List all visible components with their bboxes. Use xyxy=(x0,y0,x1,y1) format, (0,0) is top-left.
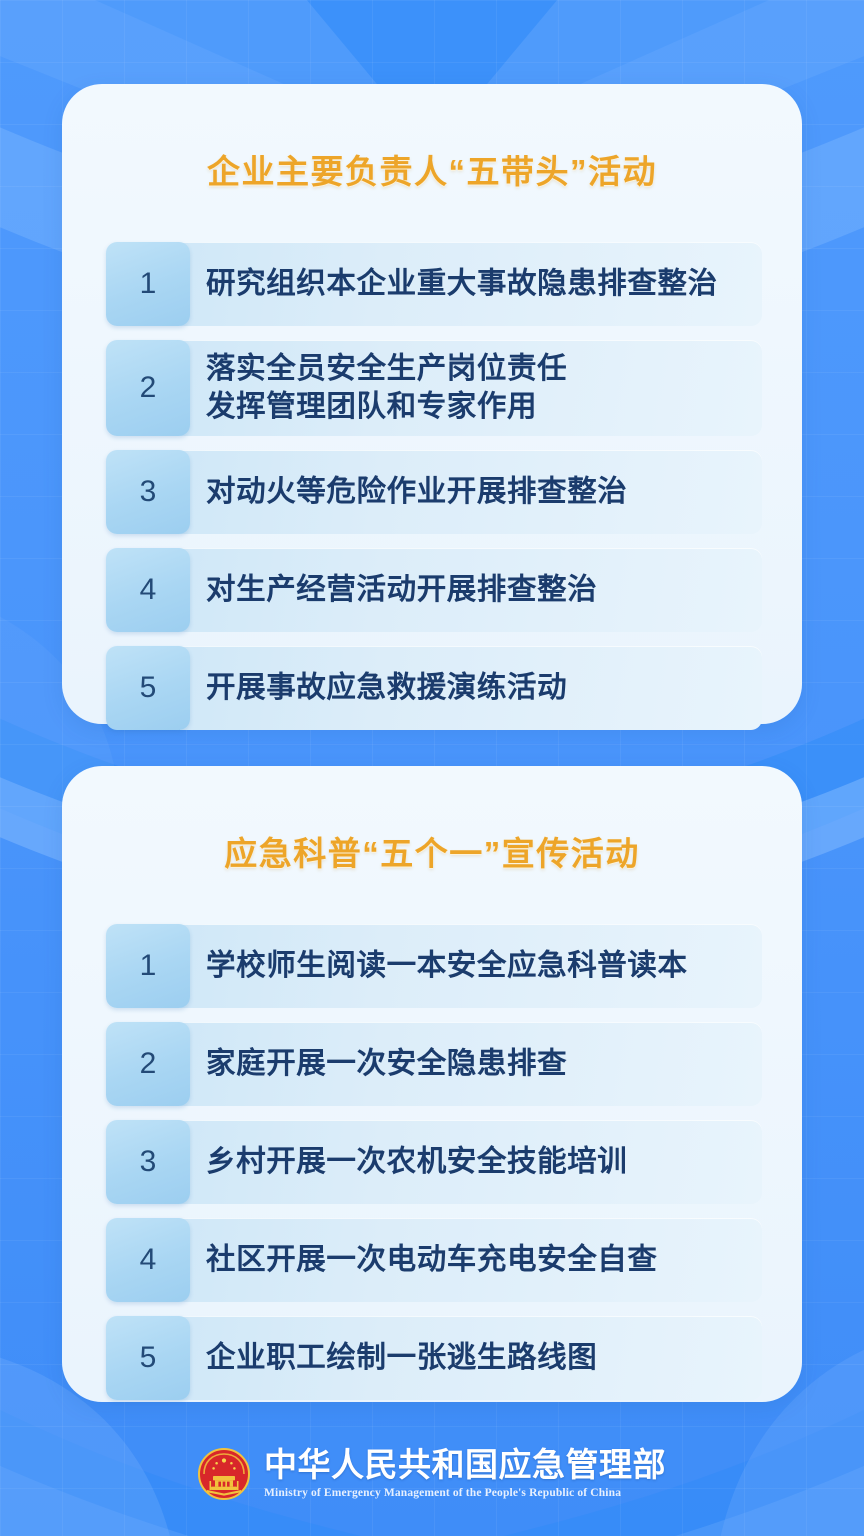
item-text-panel: 对生产经营活动开展排查整治 xyxy=(180,548,762,632)
list-item[interactable]: 4 社区开展一次电动车充电安全自查 xyxy=(106,1218,762,1302)
item-text-line: 发挥管理团队和专家作用 xyxy=(206,388,744,426)
item-number-badge: 2 xyxy=(106,1022,190,1106)
ministry-name-en: Ministry of Emergency Management of the … xyxy=(264,1487,621,1501)
china-national-emblem-icon xyxy=(198,1448,250,1500)
item-number-badge: 4 xyxy=(106,548,190,632)
item-text-panel: 对动火等危险作业开展排查整治 xyxy=(180,450,762,534)
activity-card-emergency-science-popularization: 应急科普“五个一”宣传活动 1 学校师生阅读一本安全应急科普读本 2 家庭开展一… xyxy=(62,766,802,1402)
list-item[interactable]: 3 乡村开展一次农机安全技能培训 xyxy=(106,1120,762,1204)
item-text-panel: 企业职工绘制一张逃生路线图 xyxy=(180,1316,762,1400)
list-item[interactable]: 4 对生产经营活动开展排查整治 xyxy=(106,548,762,632)
item-text-line: 研究组织本企业重大事故隐患排查整治 xyxy=(206,265,744,303)
item-number-badge: 1 xyxy=(106,924,190,1008)
item-text-line: 对生产经营活动开展排查整治 xyxy=(206,571,744,609)
activity-item-list: 1 学校师生阅读一本安全应急科普读本 2 家庭开展一次安全隐患排查 3 乡村开展… xyxy=(62,924,802,1400)
item-text-panel: 家庭开展一次安全隐患排查 xyxy=(180,1022,762,1106)
item-text-line: 社区开展一次电动车充电安全自查 xyxy=(206,1241,744,1279)
item-number-badge: 4 xyxy=(106,1218,190,1302)
list-item[interactable]: 3 对动火等危险作业开展排查整治 xyxy=(106,450,762,534)
ministry-name-cn: 中华人民共和国应急管理部 xyxy=(264,1448,666,1483)
card-title: 企业主要负责人“五带头”活动 xyxy=(62,111,802,214)
list-item[interactable]: 2 落实全员安全生产岗位责任 发挥管理团队和专家作用 xyxy=(106,340,762,436)
list-item[interactable]: 1 研究组织本企业重大事故隐患排查整治 xyxy=(106,242,762,326)
poster-root: 企业主要负责人“五带头”活动 1 研究组织本企业重大事故隐患排查整治 2 落实全… xyxy=(0,0,864,1536)
list-item[interactable]: 5 开展事故应急救援演练活动 xyxy=(106,646,762,730)
ministry-name-block: 中华人民共和国应急管理部 Ministry of Emergency Manag… xyxy=(264,1448,666,1500)
item-number-badge: 5 xyxy=(106,646,190,730)
item-text-line: 企业职工绘制一张逃生路线图 xyxy=(206,1339,744,1377)
list-item[interactable]: 5 企业职工绘制一张逃生路线图 xyxy=(106,1316,762,1400)
item-number-badge: 2 xyxy=(106,340,190,436)
item-number-badge: 5 xyxy=(106,1316,190,1400)
card-title: 应急科普“五个一”宣传活动 xyxy=(62,793,802,896)
item-number-badge: 3 xyxy=(106,450,190,534)
item-text-panel: 学校师生阅读一本安全应急科普读本 xyxy=(180,924,762,1008)
item-text-line: 家庭开展一次安全隐患排查 xyxy=(206,1045,744,1083)
item-number-badge: 1 xyxy=(106,242,190,326)
item-text-panel: 落实全员安全生产岗位责任 发挥管理团队和专家作用 xyxy=(180,340,762,436)
item-text-panel: 开展事故应急救援演练活动 xyxy=(180,646,762,730)
item-text-line: 开展事故应急救援演练活动 xyxy=(206,669,744,707)
item-text-panel: 乡村开展一次农机安全技能培训 xyxy=(180,1120,762,1204)
item-text-line: 乡村开展一次农机安全技能培训 xyxy=(206,1143,744,1181)
item-text-panel: 研究组织本企业重大事故隐患排查整治 xyxy=(180,242,762,326)
list-item[interactable]: 1 学校师生阅读一本安全应急科普读本 xyxy=(106,924,762,1008)
item-number-badge: 3 xyxy=(106,1120,190,1204)
ministry-footer: 中华人民共和国应急管理部 Ministry of Emergency Manag… xyxy=(0,1448,864,1500)
item-text-line: 对动火等危险作业开展排查整治 xyxy=(206,473,744,511)
item-text-line: 落实全员安全生产岗位责任 xyxy=(206,350,744,388)
activity-item-list: 1 研究组织本企业重大事故隐患排查整治 2 落实全员安全生产岗位责任 发挥管理团… xyxy=(62,242,802,730)
item-text-line: 学校师生阅读一本安全应急科普读本 xyxy=(206,947,744,985)
item-text-panel: 社区开展一次电动车充电安全自查 xyxy=(180,1218,762,1302)
list-item[interactable]: 2 家庭开展一次安全隐患排查 xyxy=(106,1022,762,1106)
activity-card-enterprise-leaders: 企业主要负责人“五带头”活动 1 研究组织本企业重大事故隐患排查整治 2 落实全… xyxy=(62,84,802,724)
